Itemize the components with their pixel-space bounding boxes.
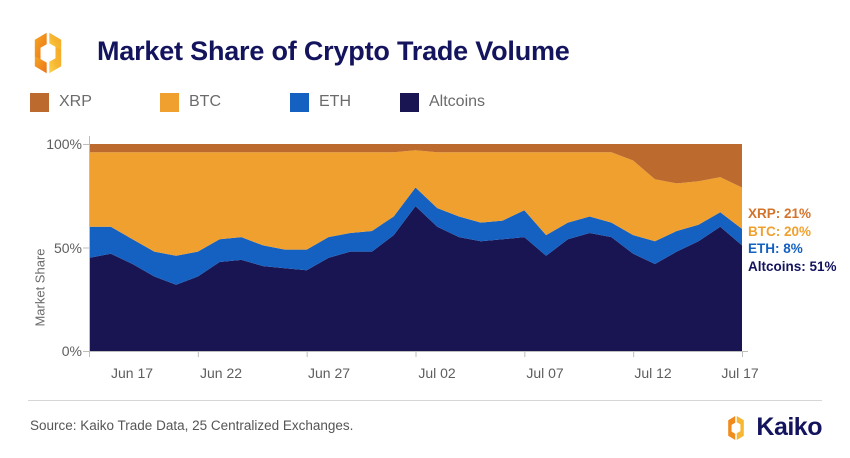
legend-label-eth: ETH xyxy=(319,93,351,111)
chart-footer: Source: Kaiko Trade Data, 25 Centralized… xyxy=(0,400,850,458)
legend-label-xrp: XRP xyxy=(59,93,92,111)
annotation-xrp: XRP: 21% xyxy=(748,205,848,223)
footer-divider xyxy=(28,400,822,401)
series-value-annotations: XRP: 21% BTC: 20% ETH: 8% Altcoins: 51% xyxy=(748,205,848,275)
annotation-altcoins-name: Altcoins xyxy=(748,259,801,274)
legend-item-btc[interactable]: BTC xyxy=(160,88,221,116)
annotation-xrp-value: 21% xyxy=(784,206,811,221)
x-tick-2: Jun 27 xyxy=(308,365,350,381)
annotation-eth: ETH: 8% xyxy=(748,240,848,258)
kaiko-hexagon-icon xyxy=(26,31,70,75)
legend-swatch-xrp xyxy=(30,93,49,112)
chart-header: Market Share of Crypto Trade Volume xyxy=(0,0,850,86)
annotation-btc-name: BTC xyxy=(748,224,776,239)
x-tick-3: Jul 02 xyxy=(418,365,455,381)
annotation-altcoins: Altcoins: 51% xyxy=(748,258,848,276)
chart-legend: XRP BTC ETH Altcoins xyxy=(30,88,550,118)
x-axis-ticks: Jun 17 Jun 22 Jun 27 Jul 02 Jul 07 Jul 1… xyxy=(0,365,850,387)
legend-item-xrp[interactable]: XRP xyxy=(30,88,92,116)
footer-brand-name: Kaiko xyxy=(756,413,822,442)
legend-item-altcoins[interactable]: Altcoins xyxy=(400,88,485,116)
legend-swatch-btc xyxy=(160,93,179,112)
x-tick-5: Jul 12 xyxy=(634,365,671,381)
x-tick-1: Jun 22 xyxy=(200,365,242,381)
annotation-altcoins-value: 51% xyxy=(810,259,837,274)
kaiko-hexagon-icon xyxy=(723,415,749,441)
chart-plot-area: Market Share 100% 50% 0% Jun 17 Jun 22 J… xyxy=(0,120,850,390)
legend-item-eth[interactable]: ETH xyxy=(290,88,351,116)
footer-brand: Kaiko xyxy=(723,413,822,442)
x-tick-6: Jul 17 xyxy=(721,365,758,381)
x-tick-4: Jul 07 xyxy=(526,365,563,381)
annotation-btc: BTC: 20% xyxy=(748,223,848,241)
annotation-eth-value: 8% xyxy=(783,241,803,256)
x-tick-0: Jun 17 xyxy=(111,365,153,381)
legend-label-altcoins: Altcoins xyxy=(429,93,485,111)
annotation-btc-value: 20% xyxy=(784,224,811,239)
legend-swatch-altcoins xyxy=(400,93,419,112)
annotation-xrp-name: XRP xyxy=(748,206,776,221)
chart-page: Market Share of Crypto Trade Volume XRP … xyxy=(0,0,850,458)
legend-label-btc: BTC xyxy=(189,93,221,111)
stacked-area-chart xyxy=(0,120,850,390)
page-title: Market Share of Crypto Trade Volume xyxy=(97,36,570,67)
annotation-eth-name: ETH xyxy=(748,241,775,256)
legend-swatch-eth xyxy=(290,93,309,112)
source-note: Source: Kaiko Trade Data, 25 Centralized… xyxy=(30,418,353,433)
